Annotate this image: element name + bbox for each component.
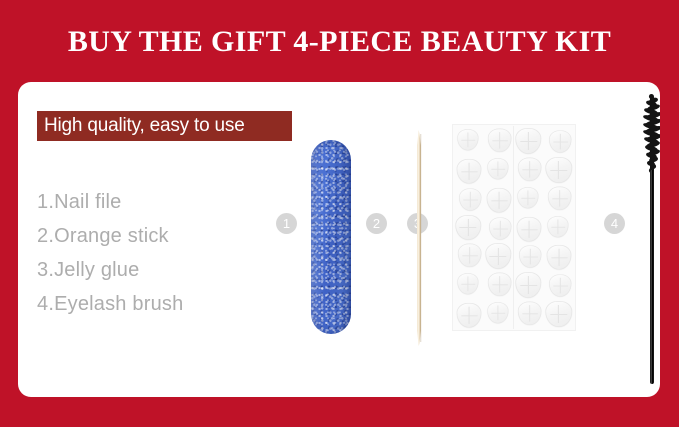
glue-tab (486, 188, 511, 213)
glue-tab (518, 157, 542, 181)
glue-tab (456, 303, 481, 328)
orange-stick-shadow (420, 134, 422, 342)
nail-file-icon (311, 140, 351, 334)
glue-tab (547, 245, 572, 270)
glue-tab (518, 302, 542, 326)
eyelash-brush-handle (650, 170, 654, 384)
glue-tab (549, 130, 572, 152)
list-item: 4.Eyelash brush (37, 287, 317, 321)
headline-text: High quality, easy to use (37, 115, 245, 137)
glue-tab (487, 158, 509, 179)
badge-4: 4 (604, 213, 625, 234)
glue-tab (549, 275, 572, 297)
glue-tab (489, 217, 512, 239)
badge-1: 1 (276, 213, 297, 234)
glue-tab (487, 302, 509, 323)
glue-tab (517, 216, 542, 241)
glue-tab (488, 129, 512, 153)
list-item: 2.Orange stick (37, 219, 317, 253)
glue-tab (517, 187, 539, 208)
glue-tab (456, 159, 481, 184)
headline-banner: High quality, easy to use (37, 111, 292, 141)
glue-sheet-divider (513, 126, 514, 329)
glue-tab (519, 246, 542, 268)
glue-tab (458, 188, 481, 210)
page-title: BUY THE GIFT 4-PIECE BEAUTY KIT (0, 24, 679, 60)
item-list: 1.Nail file 2.Orange stick 3.Jelly glue … (37, 185, 317, 321)
glue-tab (457, 244, 481, 268)
glue-tab (485, 243, 511, 269)
glue-tab (515, 272, 541, 298)
glue-tab (546, 301, 572, 327)
glue-tab (515, 128, 541, 154)
badge-2: 2 (366, 213, 387, 234)
glue-tab (457, 273, 479, 294)
orange-stick-icon (415, 130, 422, 346)
list-item: 1.Nail file (37, 185, 317, 219)
product-card: High quality, easy to use 1.Nail file 2.… (18, 82, 660, 397)
glue-tab (547, 216, 569, 237)
product-poster: BUY THE GIFT 4-PIECE BEAUTY KIT High qua… (0, 0, 679, 427)
glue-tab (546, 157, 572, 183)
jelly-glue-icon (452, 124, 576, 331)
glue-tab (548, 186, 572, 210)
glue-tab (457, 129, 479, 150)
eyelash-brush-head (644, 94, 660, 174)
glue-tab (488, 273, 512, 297)
eyelash-brush-icon (637, 94, 660, 386)
glue-tab (455, 215, 481, 241)
list-item: 3.Jelly glue (37, 253, 317, 287)
